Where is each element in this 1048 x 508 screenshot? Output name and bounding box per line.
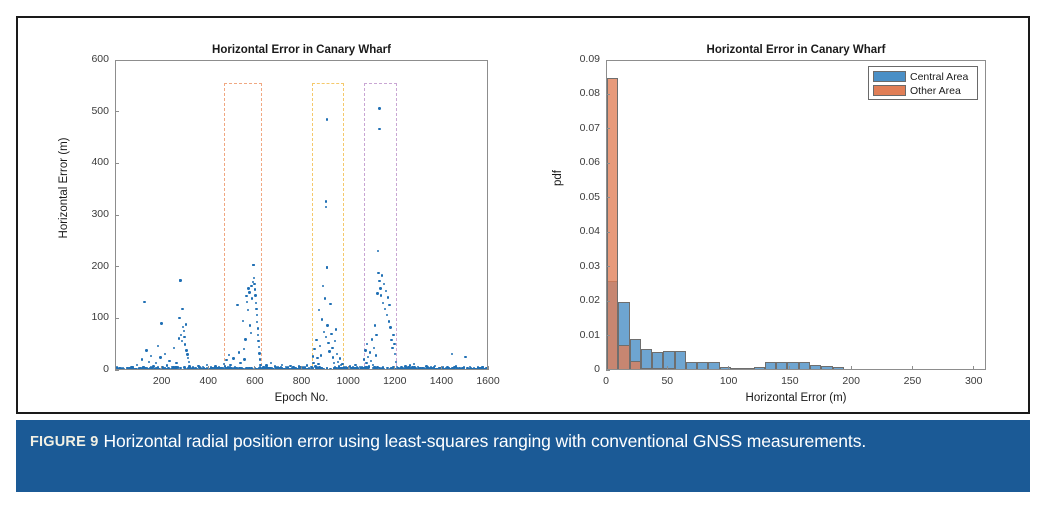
histogram-bar — [697, 362, 708, 370]
scatter-point — [259, 358, 261, 360]
scatter-point — [388, 320, 390, 322]
scatter-point — [323, 331, 325, 333]
scatter-point — [141, 358, 143, 360]
scatter-point — [256, 321, 258, 323]
scatter-point — [400, 369, 402, 370]
scatter-point — [377, 272, 379, 274]
scatter-point — [388, 304, 390, 306]
legend-label-other: Other Area — [910, 85, 961, 97]
scatter-point — [252, 264, 254, 266]
histogram-bar — [607, 78, 618, 370]
scatter-point — [334, 340, 336, 342]
figure-number-label: FIGURE 9 — [30, 434, 98, 450]
y-tick-mark — [115, 60, 119, 61]
y-tick-label: 200 — [69, 260, 109, 272]
scatter-point — [365, 369, 367, 370]
scatter-point — [248, 291, 250, 293]
scatter-point — [244, 369, 246, 370]
scatter-point — [220, 367, 222, 369]
y-tick-mark — [115, 111, 119, 112]
x-tick-label: 1600 — [463, 375, 513, 387]
x-tick-mark — [851, 366, 852, 370]
scatter-point — [315, 369, 317, 370]
scatter-point — [257, 327, 259, 329]
histogram-chart: Horizontal Error in Canary Wharf pdf Hor… — [528, 18, 1032, 414]
histogram-bar — [686, 369, 697, 370]
scatter-point — [316, 357, 318, 359]
histogram-bar — [731, 368, 742, 370]
scatter-point — [139, 369, 141, 370]
scatter-point — [178, 317, 180, 319]
histogram-legend: Central Area Other Area — [868, 66, 978, 100]
scatter-point — [337, 361, 339, 363]
scatter-point — [390, 367, 392, 369]
y-tick-label: 0.08 — [558, 87, 600, 99]
scatter-point — [306, 364, 308, 366]
scatter-point — [322, 368, 324, 370]
scatter-point — [166, 364, 168, 366]
scatter-point — [250, 285, 252, 287]
y-tick-mark — [606, 335, 610, 336]
scatter-point — [367, 366, 369, 368]
scatter-point — [142, 369, 144, 370]
scatter-point — [247, 287, 249, 289]
scatter-point — [184, 369, 186, 370]
scatter-point — [381, 274, 383, 276]
scatter-point — [168, 369, 170, 370]
scatter-point — [140, 369, 142, 370]
scatter-point — [257, 369, 259, 370]
scatter-point — [242, 320, 244, 322]
scatter-point — [376, 369, 378, 370]
y-tick-label: 0.07 — [558, 122, 600, 134]
histogram-bar — [821, 366, 832, 370]
histogram-bar — [765, 362, 776, 370]
scatter-point — [373, 347, 375, 349]
scatter-point — [380, 294, 382, 296]
y-tick-mark — [115, 163, 119, 164]
x-tick-label: 50 — [642, 375, 692, 387]
scatter-point — [459, 369, 461, 370]
scatter-point — [292, 366, 294, 368]
scatter-point — [199, 369, 201, 370]
scatter-point — [398, 369, 400, 370]
scatter-point — [326, 324, 328, 326]
histogram-bar — [810, 365, 821, 370]
scatter-point — [136, 364, 138, 366]
scatter-point — [374, 324, 376, 326]
y-tick-label: 0 — [69, 363, 109, 375]
scatter-point — [364, 349, 366, 351]
scatter-point — [342, 367, 344, 369]
scatter-point — [392, 334, 394, 336]
scatter-point — [195, 369, 197, 370]
scatter-point — [354, 369, 356, 370]
scatter-point — [329, 368, 331, 370]
legend-row: Other Area — [873, 84, 973, 97]
scatter-point — [258, 346, 260, 348]
scatter-point — [290, 368, 292, 370]
scatter-point — [183, 330, 185, 332]
histogram-bar — [641, 368, 652, 370]
scatter-point — [253, 283, 255, 285]
y-tick-mark — [606, 163, 610, 164]
scatter-point — [151, 369, 153, 370]
histogram-bar — [663, 368, 674, 370]
scatter-point — [326, 266, 328, 268]
scatter-point — [395, 361, 397, 363]
scatter-point — [378, 280, 380, 282]
scatter-point — [238, 351, 240, 353]
x-tick-mark — [254, 366, 255, 370]
histogram-bar — [652, 368, 663, 370]
scatter-point — [324, 297, 326, 299]
x-tick-mark — [348, 366, 349, 370]
scatter-point — [232, 357, 234, 359]
scatter-point — [256, 314, 258, 316]
x-tick-label: 200 — [826, 375, 876, 387]
scatter-point — [315, 339, 317, 341]
x-tick-mark — [208, 366, 209, 370]
scatter-point — [267, 369, 269, 370]
scatter-point — [226, 367, 228, 369]
histogram-title: Horizontal Error in Canary Wharf — [606, 44, 986, 56]
scatter-point — [395, 369, 397, 370]
scatter-point — [177, 366, 179, 368]
scatter-point — [178, 337, 180, 339]
scatter-point — [319, 369, 321, 370]
scatter-point — [255, 308, 257, 310]
legend-label-central: Central Area — [910, 71, 968, 83]
scatter-point — [322, 285, 324, 287]
scatter-point — [185, 369, 187, 370]
scatter-point — [145, 349, 147, 351]
scatter-point — [373, 369, 375, 370]
scatter-point — [312, 355, 314, 357]
scatter-point — [203, 367, 205, 369]
x-tick-mark — [789, 366, 790, 370]
scatter-point — [236, 304, 238, 306]
scatter-point — [209, 369, 211, 370]
scatter-point — [158, 369, 160, 370]
x-tick-mark — [973, 366, 974, 370]
scatter-point — [160, 322, 162, 324]
scatter-point — [193, 368, 195, 370]
scatter-point — [244, 338, 246, 340]
y-tick-mark — [606, 128, 610, 129]
scatter-point — [478, 369, 480, 370]
scatter-point — [255, 302, 257, 304]
scatter-point — [286, 368, 288, 370]
scatter-point — [367, 356, 369, 358]
scatter-point — [387, 369, 389, 370]
scatter-point — [178, 369, 180, 370]
histogram-bar — [776, 362, 787, 370]
scatter-point — [341, 363, 343, 365]
scatter-point — [385, 290, 387, 292]
histogram-bar — [833, 367, 844, 370]
scatter-plot-area — [115, 60, 488, 370]
scatter-point — [126, 369, 128, 370]
scatter-point — [236, 369, 238, 370]
y-tick-mark — [606, 266, 610, 267]
scatter-point — [335, 328, 337, 330]
scatter-point — [479, 369, 481, 370]
scatter-point — [257, 334, 259, 336]
y-tick-mark — [606, 60, 610, 61]
y-tick-mark — [606, 232, 610, 233]
scatter-point — [321, 369, 323, 370]
scatter-point — [256, 369, 258, 370]
figure-page: Horizontal Error in Canary Wharf Horizon… — [0, 0, 1048, 508]
scatter-point — [426, 368, 428, 370]
scatter-point — [225, 369, 227, 370]
scatter-point — [239, 362, 241, 364]
scatter-point — [410, 368, 412, 370]
x-tick-mark — [606, 366, 607, 370]
scatter-point — [408, 369, 410, 370]
y-tick-mark — [606, 370, 610, 371]
scatter-point — [327, 342, 329, 344]
scatter-point — [378, 369, 380, 370]
scatter-point — [173, 347, 175, 349]
scatter-point — [183, 336, 185, 338]
scatter-point — [317, 363, 319, 365]
scatter-point — [181, 340, 183, 342]
scatter-point — [257, 340, 259, 342]
x-tick-label: 150 — [765, 375, 815, 387]
scatter-point — [189, 369, 191, 370]
scatter-point — [326, 118, 328, 120]
figure-panel: Horizontal Error in Canary Wharf Horizon… — [16, 16, 1030, 414]
scatter-point — [186, 353, 188, 355]
y-tick-label: 0.02 — [558, 294, 600, 306]
scatter-point — [374, 366, 376, 368]
histogram-x-axis-label: Horizontal Error (m) — [606, 392, 986, 404]
histogram-bar — [618, 345, 629, 370]
scatter-point — [321, 318, 323, 320]
legend-swatch-central — [873, 71, 906, 82]
scatter-point — [243, 348, 245, 350]
scatter-point — [239, 369, 241, 370]
scatter-point — [150, 355, 152, 357]
histogram-bar — [675, 369, 686, 370]
scatter-point — [170, 369, 172, 370]
scatter-x-axis-label: Epoch No. — [115, 392, 488, 404]
scatter-point — [387, 296, 389, 298]
scatter-point — [253, 277, 255, 279]
y-tick-label: 600 — [69, 53, 109, 65]
scatter-point — [181, 308, 183, 310]
scatter-point — [312, 362, 314, 364]
scatter-point — [332, 356, 334, 358]
scatter-point — [258, 352, 260, 354]
scatter-point — [211, 368, 213, 370]
scatter-point — [281, 369, 283, 370]
scatter-point — [458, 369, 460, 370]
scatter-point — [445, 367, 447, 369]
x-tick-mark — [728, 366, 729, 370]
scatter-point — [379, 287, 381, 289]
legend-swatch-other — [873, 85, 906, 96]
scatter-point — [393, 343, 395, 345]
x-tick-label: 250 — [887, 375, 937, 387]
scatter-point — [340, 367, 342, 369]
scatter-point — [318, 309, 320, 311]
scatter-point — [333, 362, 335, 364]
scatter-point — [320, 369, 322, 370]
scatter-point — [432, 369, 434, 370]
scatter-point — [461, 367, 463, 369]
histogram-bar — [630, 361, 641, 370]
y-tick-label: 0.01 — [558, 329, 600, 341]
scatter-point — [168, 360, 170, 362]
legend-row: Central Area — [873, 70, 973, 83]
scatter-point — [320, 354, 322, 356]
scatter-point — [358, 369, 360, 370]
scatter-point — [399, 369, 401, 370]
scatter-point — [411, 369, 413, 370]
scatter-point — [452, 369, 454, 370]
scatter-point — [306, 369, 308, 370]
scatter-point — [422, 368, 424, 370]
scatter-point — [187, 367, 189, 369]
scatter-point — [412, 369, 414, 370]
histogram-bar — [720, 367, 731, 370]
scatter-point — [417, 368, 419, 370]
y-tick-mark — [115, 215, 119, 216]
scatter-point — [339, 357, 341, 359]
y-tick-label: 300 — [69, 208, 109, 220]
x-tick-label: 100 — [704, 375, 754, 387]
scatter-point — [378, 107, 380, 109]
scatter-point — [363, 358, 365, 360]
scatter-point — [138, 369, 140, 370]
figure-caption-body: Horizontal radial position error using l… — [103, 431, 866, 451]
scatter-point — [428, 369, 430, 370]
scatter-point — [143, 301, 145, 303]
scatter-point — [430, 369, 432, 370]
scatter-point — [205, 369, 207, 370]
scatter-point — [249, 369, 251, 370]
scatter-point — [311, 368, 313, 370]
y-tick-mark — [606, 301, 610, 302]
x-tick-mark — [441, 366, 442, 370]
x-tick-label: 0 — [581, 375, 631, 387]
scatter-point — [313, 348, 315, 350]
scatter-point — [383, 283, 385, 285]
scatter-point — [199, 367, 201, 369]
scatter-point — [275, 366, 277, 368]
scatter-point — [287, 369, 289, 370]
x-tick-label: 1200 — [370, 375, 420, 387]
scatter-point — [230, 369, 232, 370]
scatter-point — [455, 369, 457, 370]
scatter-point — [273, 369, 275, 370]
y-tick-mark — [115, 318, 119, 319]
x-tick-mark — [301, 366, 302, 370]
scatter-point — [466, 369, 468, 370]
histogram-bar — [742, 368, 753, 370]
y-tick-mark — [115, 266, 119, 267]
scatter-point — [366, 343, 368, 345]
scatter-point — [382, 302, 384, 304]
scatter-point — [325, 200, 327, 202]
x-tick-label: 200 — [137, 375, 187, 387]
scatter-point — [390, 339, 392, 341]
scatter-point — [331, 347, 333, 349]
scatter-point — [411, 369, 413, 370]
y-tick-mark — [115, 370, 119, 371]
x-tick-mark — [488, 366, 489, 370]
scatter-point — [319, 345, 321, 347]
scatter-point — [185, 349, 187, 351]
scatter-point — [214, 369, 216, 370]
x-tick-mark — [912, 366, 913, 370]
scatter-point — [225, 359, 227, 361]
scatter-point — [389, 326, 391, 328]
y-tick-label: 0.05 — [558, 191, 600, 203]
scatter-point — [365, 362, 367, 364]
scatter-point — [375, 354, 377, 356]
scatter-point — [334, 366, 336, 368]
scatter-point — [449, 369, 451, 370]
scatter-point — [251, 297, 253, 299]
scatter-point — [310, 369, 312, 370]
scatter-point-layer — [116, 61, 488, 370]
scatter-point — [369, 351, 371, 353]
scatter-point — [228, 354, 230, 356]
scatter-point — [162, 369, 164, 370]
x-tick-mark — [667, 366, 668, 370]
scatter-point — [362, 369, 364, 370]
scatter-point — [279, 367, 281, 369]
y-tick-label: 0 — [558, 363, 600, 375]
x-tick-label: 800 — [277, 375, 327, 387]
figure-caption-text: FIGURE 9Horizontal radial position error… — [30, 429, 1016, 455]
scatter-point — [384, 308, 386, 310]
scatter-point — [265, 366, 267, 368]
scatter-point — [184, 343, 186, 345]
scatter-point — [408, 369, 410, 370]
scatter-point — [404, 367, 406, 369]
scatter-point — [258, 369, 260, 370]
x-tick-mark — [161, 366, 162, 370]
scatter-point — [378, 128, 380, 130]
scatter-point — [356, 366, 358, 368]
histogram-bar — [708, 362, 719, 370]
scatter-point — [188, 361, 190, 363]
scatter-point — [164, 353, 166, 355]
x-tick-label: 400 — [183, 375, 233, 387]
scatter-point — [394, 353, 396, 355]
scatter-point — [159, 356, 161, 358]
histogram-bar — [663, 351, 674, 370]
y-tick-label: 400 — [69, 156, 109, 168]
scatter-point — [245, 295, 247, 297]
scatter-point — [243, 358, 245, 360]
scatter-point — [155, 362, 157, 364]
scatter-point — [247, 309, 249, 311]
scatter-point — [375, 334, 377, 336]
scatter-point — [246, 301, 248, 303]
histogram-bar — [754, 367, 765, 370]
scatter-point — [209, 369, 211, 370]
scatter-point — [325, 336, 327, 338]
scatter-point — [377, 250, 379, 252]
y-tick-mark — [606, 197, 610, 198]
scatter-point — [175, 369, 177, 370]
